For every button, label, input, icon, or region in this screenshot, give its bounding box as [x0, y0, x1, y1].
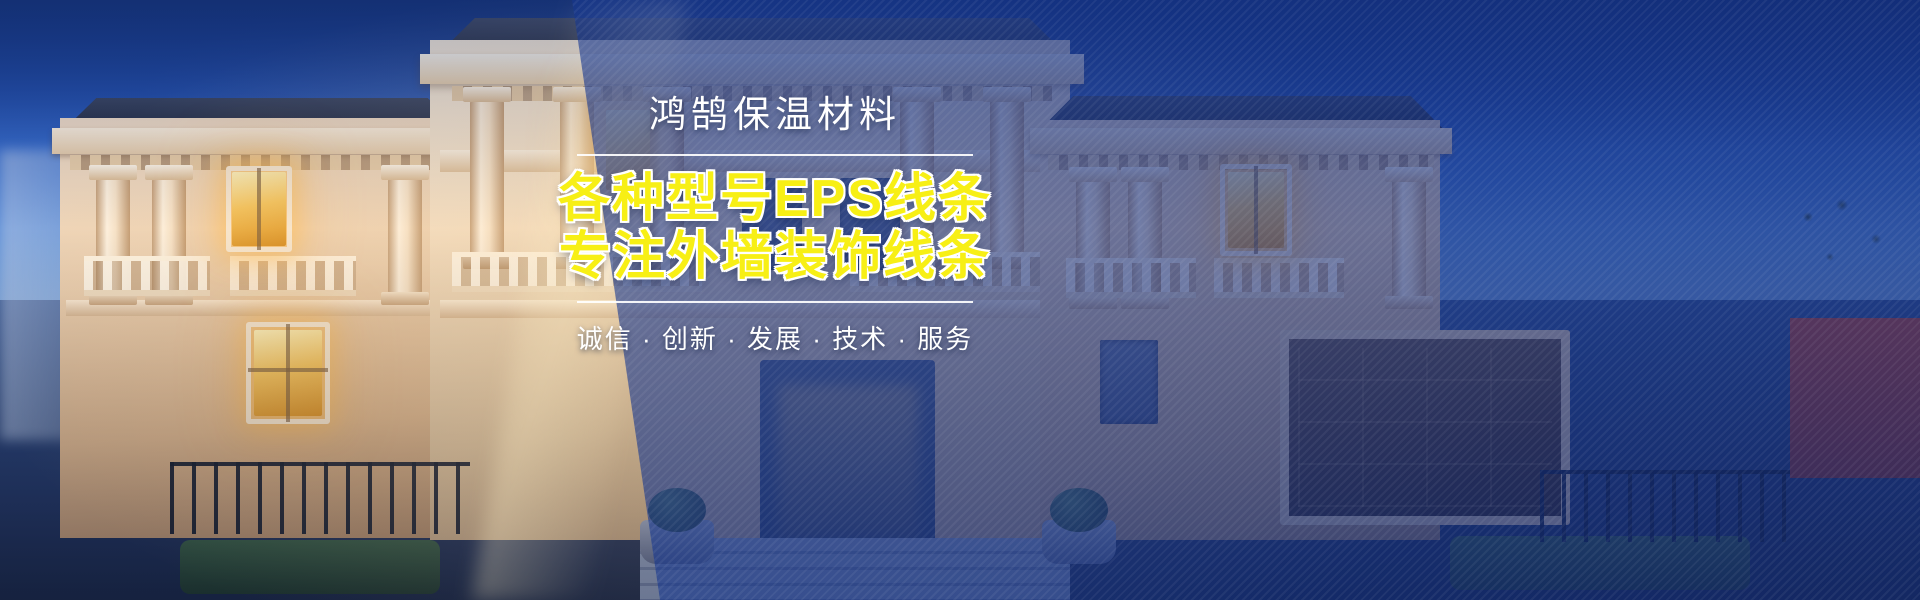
banner-text-block: 鸿鹄保温材料 各种型号EPS线条 专注外墙装饰线条 诚信 · 创新 · 发展 ·… — [545, 92, 1005, 356]
promo-banner: 鸿鹄保温材料 各种型号EPS线条 专注外墙装饰线条 诚信 · 创新 · 发展 ·… — [0, 0, 1920, 600]
brand-name: 鸿鹄保温材料 — [649, 92, 901, 138]
divider-top — [577, 154, 973, 156]
tagline: 诚信 · 创新 · 发展 · 技术 · 服务 — [577, 319, 973, 356]
divider-bottom — [577, 301, 973, 303]
headline-line-1: 各种型号EPS线条 — [558, 170, 992, 228]
headline-line-2: 专注外墙装饰线条 — [559, 228, 991, 286]
